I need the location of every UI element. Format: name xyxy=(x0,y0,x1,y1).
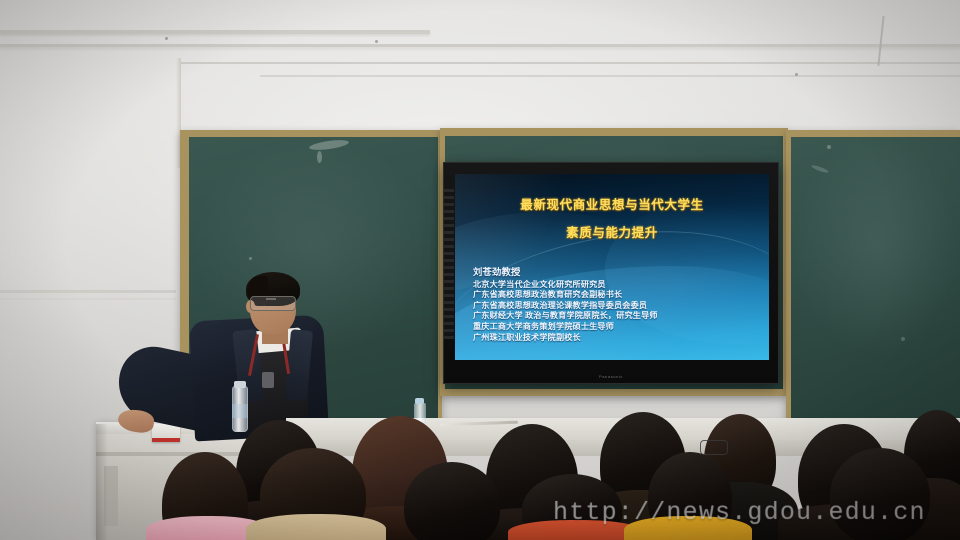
display-speaker-grille xyxy=(444,189,454,339)
water-bottle-label xyxy=(232,404,248,418)
water-bottle-on-desk-cap xyxy=(415,398,424,404)
slide-credential-line: 重庆工商大学商务策划学院硕士生导师 xyxy=(473,322,761,333)
slide-credentials-block: 刘苍劲教授 北京大学当代企业文化研究所研究员 广东省高校思想政治教育研究会副秘书… xyxy=(473,268,761,343)
slide-title: 最新现代商业思想与当代大学生 素质与能力提升 xyxy=(455,194,769,241)
wall-mark xyxy=(375,40,378,43)
slide-credential-line: 广州珠江职业技术学院副校长 xyxy=(473,333,761,344)
watermark-url: http://news.gdou.edu.cn xyxy=(553,498,926,527)
slide-credential-line: 广东财经大学 政治与教育学院原院长，研究生导师 xyxy=(473,311,761,322)
wall-trim-main xyxy=(0,44,960,47)
wall-trim-secondary xyxy=(180,62,960,64)
eyeglasses-bridge xyxy=(266,298,276,300)
slide-credential-line: 北京大学当代企业文化研究所研究员 xyxy=(473,280,761,291)
chalk-smudge xyxy=(317,151,322,163)
slide-title-line1: 最新现代商业思想与当代大学生 xyxy=(520,198,703,212)
wall-mark xyxy=(165,37,168,40)
wall-seam xyxy=(0,290,176,293)
lanyard-badge xyxy=(262,372,274,388)
display-screen: 最新现代商业思想与当代大学生 素质与能力提升 刘苍劲教授 北京大学当代企业文化研… xyxy=(455,174,769,360)
wall-trim-tertiary xyxy=(260,75,960,77)
water-bottle-cap xyxy=(234,381,246,388)
chalk-smudge xyxy=(827,145,831,149)
slide-background: 最新现代商业思想与当代大学生 素质与能力提升 刘苍劲教授 北京大学当代企业文化研… xyxy=(455,174,769,360)
slide-credential-line: 广东省高校思想政治教育研究会副秘书长 xyxy=(473,290,761,301)
audience-shoulders-beige xyxy=(246,514,386,540)
slide-credential-line: 广东省高校思想政治理论课教学指导委员会委员 xyxy=(473,301,761,312)
blackboard-right-panel xyxy=(786,130,960,430)
audience-head xyxy=(404,462,500,540)
wall-mark xyxy=(795,73,798,76)
chalk-smudge xyxy=(249,257,252,260)
wall-trim-upper-left xyxy=(0,30,430,34)
slide-title-line2: 素质与能力提升 xyxy=(455,222,769,241)
blackboard-surface xyxy=(791,137,960,423)
chalk-smudge xyxy=(811,164,829,174)
wall-seam-lower xyxy=(0,298,176,300)
chalk-smudge xyxy=(901,337,905,341)
display-brand-label: Panasonic xyxy=(599,374,623,379)
lecture-photo-scene: 最新现代商业思想与当代大学生 素质与能力提升 刘苍劲教授 北京大学当代企业文化研… xyxy=(0,0,960,540)
chalk-smudge xyxy=(309,138,350,151)
presentation-display[interactable]: 最新现代商业思想与当代大学生 素质与能力提升 刘苍劲教授 北京大学当代企业文化研… xyxy=(443,162,779,384)
slide-presenter-name: 刘苍劲教授 xyxy=(473,268,761,279)
eyeglasses-icon xyxy=(700,440,728,455)
desk-box-object xyxy=(152,424,180,442)
podium-shading xyxy=(96,424,108,540)
